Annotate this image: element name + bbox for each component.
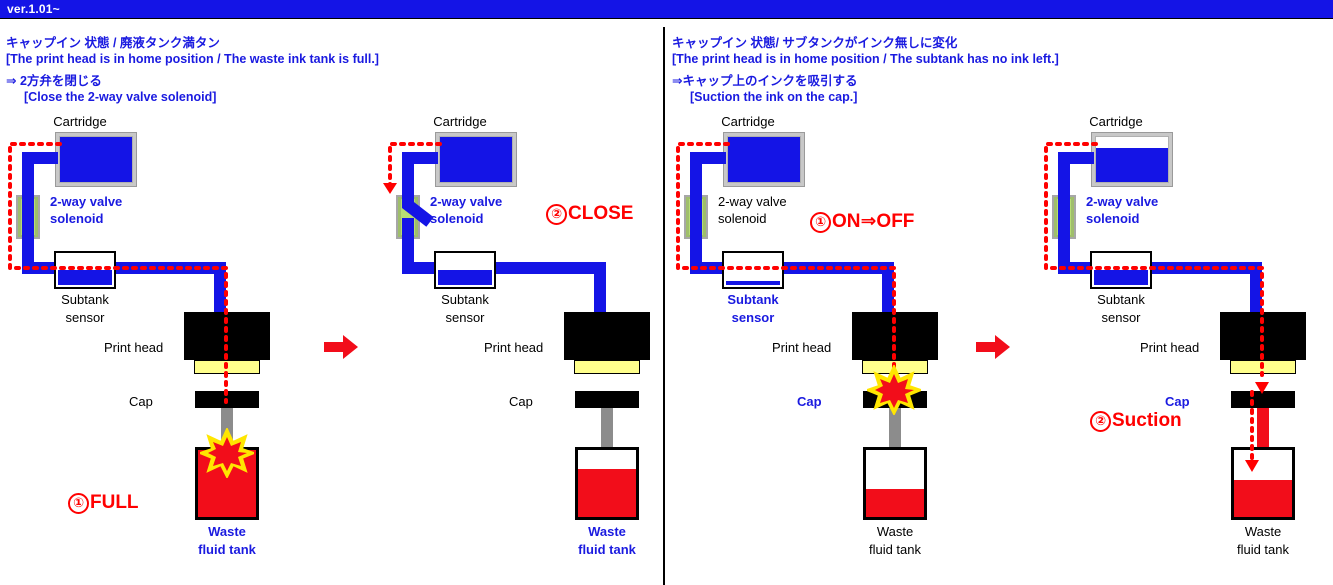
alert-burst-icon [200, 428, 254, 478]
alert-burst-icon [867, 365, 921, 415]
airflow-route-dotted [0, 110, 330, 585]
callout-text: Suction [1112, 410, 1182, 431]
left-heading-en: [The print head is in home position / Th… [6, 52, 379, 67]
right-action-jp: ⇒キャップ上のインクを吸引する [672, 74, 857, 89]
version-bar: ver.1.01~ [0, 0, 1333, 19]
airflow-route-dotted [668, 110, 998, 585]
callout-number: ② [1090, 411, 1111, 432]
callout-text: CLOSE [568, 203, 633, 224]
callout-2-close: ②CLOSE [546, 203, 633, 225]
callout-1-on-off: ①ON⇒OFF [810, 210, 914, 233]
callout-1-full: ①FULL [68, 492, 139, 514]
right-action-en: [Suction the ink on the cap.] [690, 90, 857, 105]
diagram-panel-2: Cartridge 2-way valve solenoid Subtank s… [360, 110, 690, 585]
callout-text: ON⇒OFF [832, 211, 914, 232]
diagram-panel-1: Cartridge 2-way valve solenoid Subtank s… [0, 110, 330, 585]
callout-text: FULL [90, 492, 139, 513]
callout-2-suction: ②Suction [1090, 410, 1182, 432]
left-heading-jp: キャップイン 状態 / 廃液タンク満タン [6, 36, 220, 51]
suction-route-dotted [1008, 110, 1333, 585]
version-label: ver.1.01~ [7, 2, 60, 16]
diagram-panel-4: Cartridge 2-way valve solenoid Subtank s… [1008, 110, 1333, 585]
right-heading-jp: キャップイン 状態/ サブタンクがインク無しに変化 [672, 36, 957, 51]
callout-number: ① [810, 212, 831, 233]
callout-number: ② [546, 204, 567, 225]
left-action-jp: ⇒ 2方弁を閉じる [6, 74, 102, 89]
right-heading-en: [The print head is in home position / Th… [672, 52, 1059, 67]
callout-number: ① [68, 493, 89, 514]
airflow-route-dotted [360, 110, 690, 585]
diagram-panel-3: Cartridge 2-way valve solenoid Subtank s… [668, 110, 998, 585]
left-action-en: [Close the 2-way valve solenoid] [24, 90, 216, 105]
